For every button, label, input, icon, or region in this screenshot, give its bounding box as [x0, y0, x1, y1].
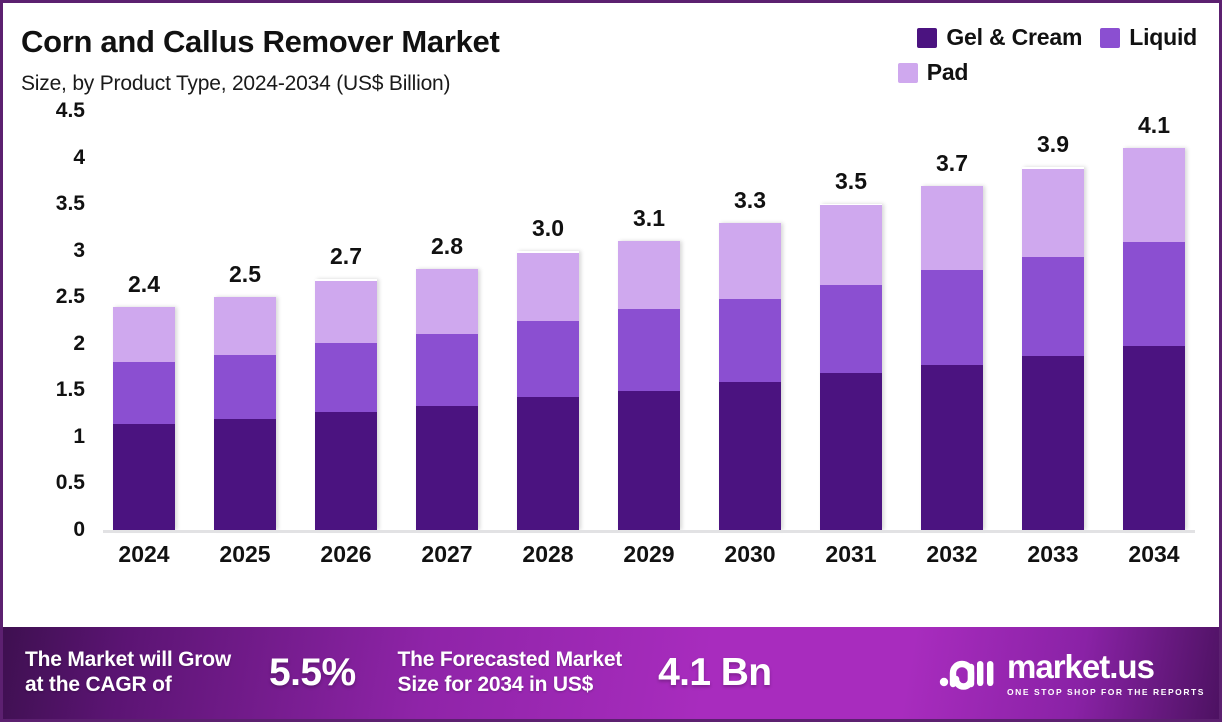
logo-name: market.us: [1007, 650, 1205, 683]
x-axis-tick: 2027: [412, 541, 482, 568]
bar-segment-gel-cream[interactable]: [820, 373, 882, 530]
bar-total-label: 2.8: [431, 233, 463, 260]
bar-segment-pad[interactable]: [517, 253, 579, 322]
bar-stack[interactable]: [416, 269, 478, 530]
bar-group[interactable]: 3.9: [1018, 167, 1088, 530]
bar-segment-pad[interactable]: [921, 186, 983, 270]
bar-segment-liquid[interactable]: [416, 334, 478, 406]
bar-segment-liquid[interactable]: [1022, 257, 1084, 356]
bar-stack[interactable]: [1123, 148, 1185, 530]
bar-segment-pad[interactable]: [719, 223, 781, 299]
bar-segment-gel-cream[interactable]: [719, 382, 781, 530]
bar-segment-gel-cream[interactable]: [1022, 356, 1084, 530]
bar-segment-gel-cream[interactable]: [517, 397, 579, 530]
bar-segment-liquid[interactable]: [214, 355, 276, 419]
bar-stack[interactable]: [719, 223, 781, 530]
bar-segment-liquid[interactable]: [1123, 242, 1185, 345]
legend-swatch-icon-pad: [898, 63, 918, 83]
x-axis: 2024202520262027202820292030203120322033…: [103, 541, 1195, 568]
market-us-logo[interactable]: market.us ONE STOP SHOP FOR THE REPORTS: [939, 650, 1205, 697]
chart-card: Corn and Callus Remover Market Size, by …: [3, 3, 1219, 627]
legend-label-pad: Pad: [927, 59, 969, 86]
bar-segment-liquid[interactable]: [618, 309, 680, 391]
bar-segment-pad[interactable]: [1022, 169, 1084, 257]
cagr-caption: The Market will Grow at the CAGR of: [25, 648, 231, 698]
bar-stack[interactable]: [214, 297, 276, 530]
bar-segment-gel-cream[interactable]: [214, 419, 276, 530]
y-axis-tick: 0: [73, 518, 85, 542]
y-axis-tick: 4.5: [56, 99, 85, 123]
bar-segment-liquid[interactable]: [719, 299, 781, 382]
market-us-mark-icon: [939, 651, 997, 696]
legend-row-2: Pad: [777, 59, 1197, 86]
bar-stack[interactable]: [113, 307, 175, 530]
bar-total-label: 2.5: [229, 261, 261, 288]
legend-swatch-icon-gel-cream: [917, 28, 937, 48]
chart-header: Corn and Callus Remover Market Size, by …: [21, 17, 1201, 109]
bar-group[interactable]: 2.7: [311, 279, 381, 530]
bar-segment-gel-cream[interactable]: [113, 424, 175, 530]
footer-banner: The Market will Grow at the CAGR of 5.5%…: [3, 627, 1219, 719]
y-axis-tick: 4: [73, 146, 85, 170]
bar-total-label: 4.1: [1138, 112, 1170, 139]
bar-group[interactable]: 2.8: [412, 269, 482, 530]
bar-total-label: 3.7: [936, 150, 968, 177]
plot-area: 2.42.52.72.83.03.13.33.53.73.94.1: [103, 111, 1195, 533]
y-axis-tick: 0.5: [56, 471, 85, 495]
bar-stack[interactable]: [517, 251, 579, 530]
legend-label-gel-cream: Gel & Cream: [946, 24, 1082, 51]
bar-segment-liquid[interactable]: [921, 270, 983, 365]
bar-total-label: 3.5: [835, 168, 867, 195]
x-axis-tick: 2032: [917, 541, 987, 568]
bar-total-label: 3.1: [633, 205, 665, 232]
bar-segment-pad[interactable]: [315, 281, 377, 343]
bar-segment-gel-cream[interactable]: [618, 391, 680, 530]
x-axis-tick: 2033: [1018, 541, 1088, 568]
y-axis-tick: 3: [73, 239, 85, 263]
bar-stack[interactable]: [618, 241, 680, 530]
bar-segment-liquid[interactable]: [820, 285, 882, 373]
bar-segment-pad[interactable]: [214, 297, 276, 355]
bar-total-label: 3.9: [1037, 131, 1069, 158]
logo-tagline: ONE STOP SHOP FOR THE REPORTS: [1007, 687, 1205, 697]
bar-segment-liquid[interactable]: [517, 321, 579, 396]
bar-group[interactable]: 2.4: [109, 307, 179, 530]
bar-total-label: 3.0: [532, 215, 564, 242]
legend-row-1: Gel & Cream Liquid: [777, 24, 1197, 51]
bar-group[interactable]: 4.1: [1119, 148, 1189, 530]
bar-group[interactable]: 3.7: [917, 186, 987, 531]
bar-segment-pad[interactable]: [416, 269, 478, 333]
bar-series-container: 2.42.52.72.83.03.13.33.53.73.94.1: [103, 111, 1195, 530]
plot-wrapper: 00.511.522.533.544.5 2.42.52.72.83.03.13…: [21, 111, 1201, 581]
bar-group[interactable]: 3.1: [614, 241, 684, 530]
bar-stack[interactable]: [1022, 167, 1084, 530]
y-axis-tick: 2.5: [56, 285, 85, 309]
bar-group[interactable]: 3.0: [513, 251, 583, 530]
x-axis-tick: 2034: [1119, 541, 1189, 568]
bar-group[interactable]: 2.5: [210, 297, 280, 530]
legend-item-pad[interactable]: Pad: [898, 59, 969, 86]
y-axis-tick: 3.5: [56, 192, 85, 216]
x-axis-line: [103, 530, 1195, 533]
bar-segment-liquid[interactable]: [113, 362, 175, 423]
bar-total-label: 3.3: [734, 187, 766, 214]
bar-stack[interactable]: [921, 186, 983, 531]
bar-total-label: 2.7: [330, 243, 362, 270]
y-axis-tick: 1: [73, 425, 85, 449]
x-axis-tick: 2029: [614, 541, 684, 568]
y-axis-tick: 1.5: [56, 378, 85, 402]
bar-segment-gel-cream[interactable]: [1123, 346, 1185, 530]
cagr-value: 5.5%: [269, 651, 356, 695]
bar-segment-pad[interactable]: [618, 241, 680, 308]
legend-swatch-icon-liquid: [1100, 28, 1120, 48]
bar-segment-gel-cream[interactable]: [416, 406, 478, 530]
legend-item-liquid[interactable]: Liquid: [1100, 24, 1197, 51]
bar-segment-pad[interactable]: [820, 205, 882, 285]
bar-segment-pad[interactable]: [113, 307, 175, 363]
bar-segment-gel-cream[interactable]: [921, 365, 983, 530]
y-axis-tick: 2: [73, 332, 85, 356]
bar-total-label: 2.4: [128, 271, 160, 298]
bar-segment-gel-cream[interactable]: [315, 412, 377, 530]
forecast-value: 4.1 Bn: [658, 651, 771, 695]
x-axis-tick: 2026: [311, 541, 381, 568]
x-axis-tick: 2030: [715, 541, 785, 568]
bar-group[interactable]: 3.5: [816, 204, 886, 530]
x-axis-tick: 2024: [109, 541, 179, 568]
y-axis: 00.511.522.533.544.5: [21, 111, 93, 533]
bar-stack[interactable]: [315, 279, 377, 530]
legend-item-gel-cream[interactable]: Gel & Cream: [917, 24, 1082, 51]
bar-group[interactable]: 3.3: [715, 223, 785, 530]
bar-segment-liquid[interactable]: [315, 343, 377, 412]
forecast-caption: The Forecasted Market Size for 2034 in U…: [398, 648, 623, 698]
x-axis-tick: 2031: [816, 541, 886, 568]
chart-legend: Gel & Cream Liquid Pad: [777, 24, 1197, 86]
x-axis-tick: 2025: [210, 541, 280, 568]
x-axis-tick: 2028: [513, 541, 583, 568]
bar-stack[interactable]: [820, 204, 882, 530]
infographic-container: Corn and Callus Remover Market Size, by …: [0, 0, 1222, 722]
bar-segment-pad[interactable]: [1123, 148, 1185, 242]
logo-text-wrapper: market.us ONE STOP SHOP FOR THE REPORTS: [1007, 650, 1205, 697]
legend-label-liquid: Liquid: [1129, 24, 1197, 51]
